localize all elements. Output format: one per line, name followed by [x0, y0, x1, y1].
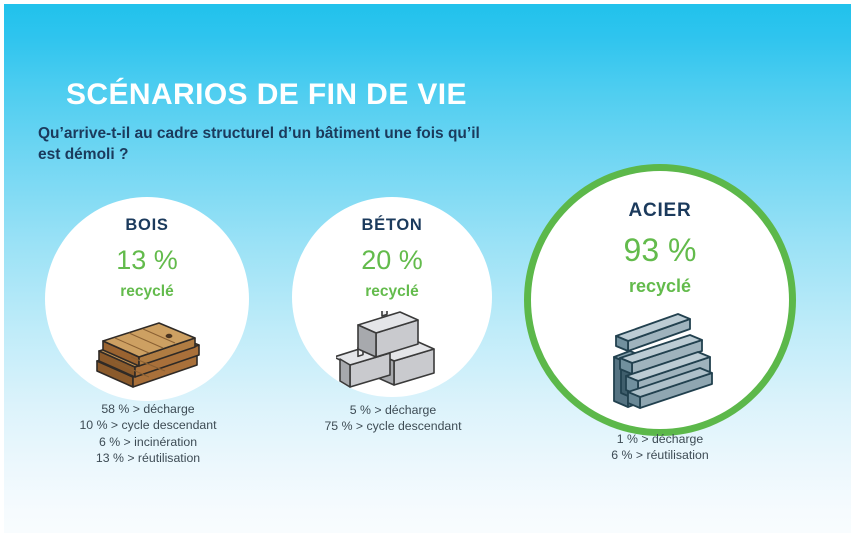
stat-line: 5 % > décharge [287, 402, 499, 418]
stat-line: 1 % > décharge [554, 431, 766, 447]
infographic-canvas: SCÉNARIOS DE FIN DE VIE Qu’arrive-t-il a… [0, 0, 855, 537]
stats-list-acier: 1 % > décharge 6 % > réutilisation [554, 431, 766, 464]
stat-line: 58 % > décharge [40, 401, 256, 417]
stat-line: 75 % > cycle descendant [287, 418, 499, 434]
page-subtitle: Qu’arrive-t-il au cadre structurel d’un … [38, 123, 498, 166]
concrete-blocks-icon [336, 311, 448, 395]
material-recycled-word-beton: recyclé [365, 284, 418, 300]
steel-beams-icon [594, 311, 726, 415]
material-label-beton: BÉTON [362, 217, 423, 234]
material-percent-beton: 20 % [361, 247, 423, 274]
stats-list-bois: 58 % > décharge 10 % > cycle descendant … [40, 401, 256, 467]
material-label-bois: BOIS [125, 217, 168, 234]
stats-list-beton: 5 % > décharge 75 % > cycle descendant [287, 402, 499, 435]
material-percent-acier: 93 % [624, 234, 697, 266]
material-label-acier: ACIER [628, 201, 691, 220]
stat-line: 13 % > réutilisation [40, 450, 256, 466]
stat-line: 6 % > incinération [40, 434, 256, 450]
page-title: SCÉNARIOS DE FIN DE VIE [66, 78, 558, 111]
wood-planks-icon [85, 313, 209, 389]
material-recycled-word-acier: recyclé [629, 277, 691, 295]
stat-line: 6 % > réutilisation [554, 447, 766, 463]
material-circle-acier-highlighted: ACIER 93 % recyclé [524, 164, 796, 436]
stat-line: 10 % > cycle descendant [40, 417, 256, 433]
material-percent-bois: 13 % [116, 247, 178, 274]
heading-block: SCÉNARIOS DE FIN DE VIE Qu’arrive-t-il a… [38, 78, 558, 166]
material-circle-bois: BOIS 13 % recyclé [45, 197, 249, 401]
material-circle-beton: BÉTON 20 % recyclé [292, 197, 492, 397]
material-recycled-word-bois: recyclé [120, 284, 173, 300]
